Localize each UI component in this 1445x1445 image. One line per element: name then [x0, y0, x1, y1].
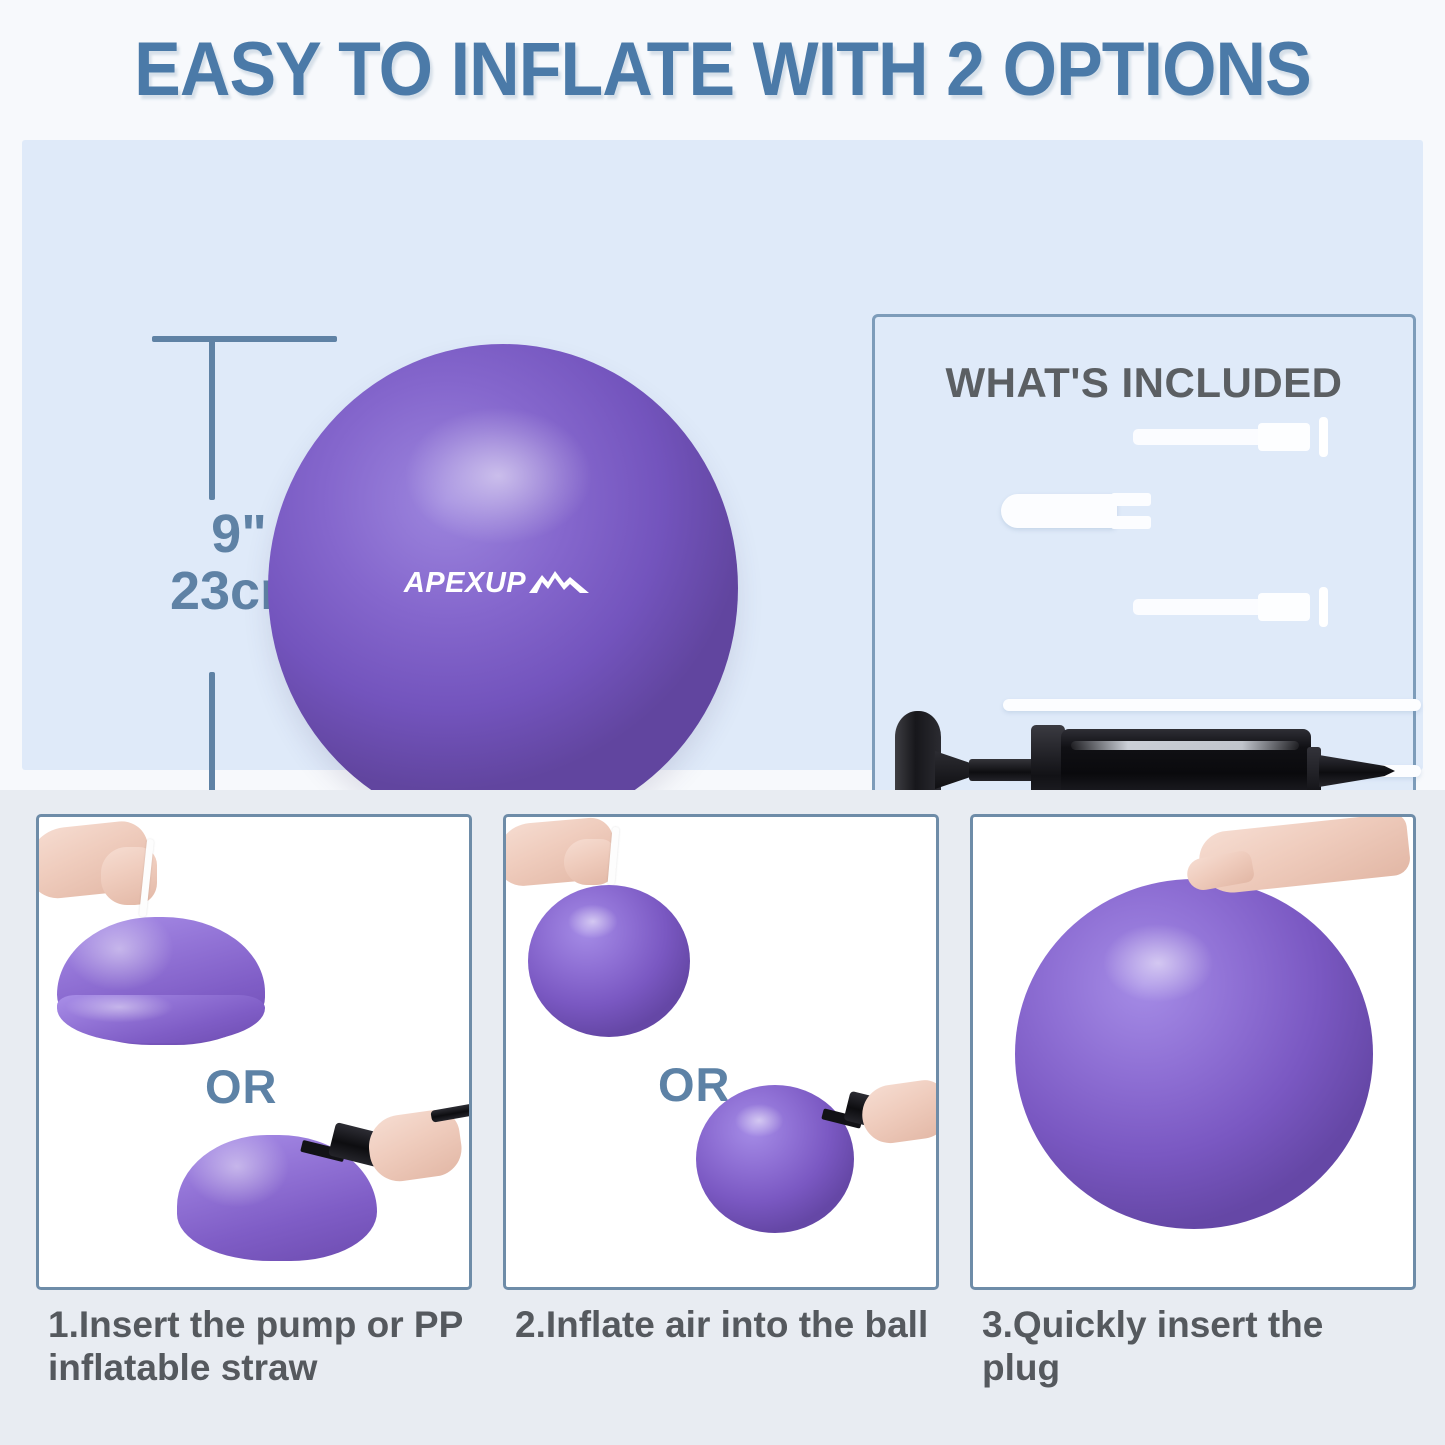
or-label-2: OR [658, 1057, 731, 1112]
measure-cap-top [152, 336, 337, 342]
brand-logo: APEXUP [262, 566, 732, 600]
whats-included-title: WHAT'S INCLUDED [875, 359, 1413, 407]
step-2-caption: 2.Inflate air into the ball [515, 1304, 935, 1347]
step-1-image: OR [36, 814, 472, 1290]
page-title: EASY TO INFLATE WITH 2 OPTIONS [134, 26, 1311, 113]
fully-inflated-ball [1015, 879, 1373, 1229]
infographic-page: EASY TO INFLATE WITH 2 OPTIONS 9" 23cm A… [0, 0, 1445, 1445]
header-banner: EASY TO INFLATE WITH 2 OPTIONS [0, 0, 1445, 138]
or-label-1: OR [205, 1059, 278, 1114]
main-exercise-ball: APEXUP [268, 344, 738, 832]
inflating-ball-with-pump [696, 1085, 854, 1233]
stopper-plug-icon-2 [1133, 587, 1328, 627]
hero-section: 9" 23cm APEXUP WHAT'S INCLUDED [22, 140, 1423, 770]
deflated-ball-rim-1 [57, 995, 265, 1043]
step-3-caption: 3.Quickly insert the plug [982, 1304, 1402, 1390]
plug-remover-tool-icon [1001, 487, 1151, 535]
inflating-ball-with-straw [528, 885, 690, 1037]
brand-name: APEXUP [404, 567, 526, 600]
mountain-icon [528, 566, 590, 594]
step-1-caption: 1.Insert the pump or PP inflatable straw [48, 1304, 468, 1390]
stopper-plug-icon-1 [1133, 417, 1328, 457]
measure-stem-top [209, 340, 215, 500]
steps-section: OR OR 1.Insert the pump o [0, 790, 1445, 1445]
step-3-image [970, 814, 1416, 1290]
step-2-image: OR [503, 814, 939, 1290]
hand-holding-pump-2 [858, 1077, 939, 1146]
